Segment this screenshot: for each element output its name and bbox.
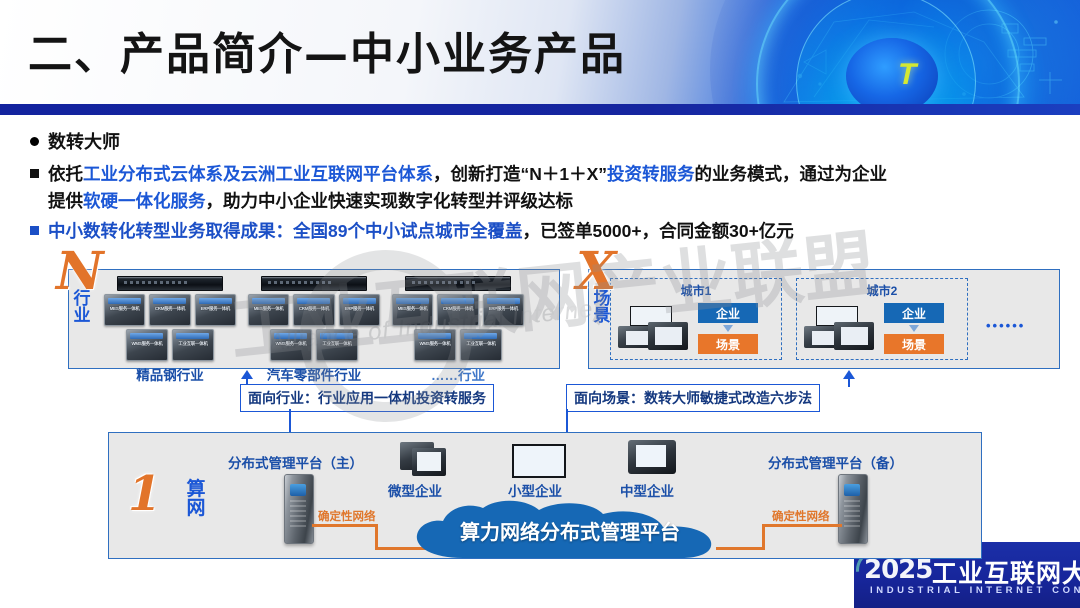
- appliance-box: MES服务一体机: [104, 294, 145, 326]
- bullet-item-1: 依托工业分布式云体系及云洲工业互联网平台体系，创新打造“N＋1＋X”投资转服务的…: [30, 161, 1060, 215]
- connector-scene-v2: [566, 409, 568, 434]
- platform-backup-label: 分布式管理平台（备）: [768, 452, 903, 472]
- appliance-box: 工业互联一体机: [172, 329, 214, 361]
- scene-side-label: 场景: [592, 290, 612, 325]
- logo-en-name: INDUSTRIAL INTERNET CONFERENCE: [870, 585, 1080, 596]
- arrow-down-icon: [723, 325, 733, 332]
- industry-group-3: MES服务一体机 CRM服务一体机 ERP服务一体机 WMS服务一体机 工业互联…: [392, 276, 524, 384]
- header-divider: [0, 104, 1080, 115]
- city-card-1: 城市1 企业 场景: [610, 278, 782, 360]
- arrow-up-industry-icon: [241, 370, 253, 379]
- more-cities-ellipsis: ••••••: [986, 318, 1025, 333]
- appliance-row-2: WMS服务一体机 工业互联一体机: [392, 329, 524, 361]
- city-content: 企业 场景: [611, 299, 781, 354]
- industry-caption: 精品钢行业: [104, 364, 236, 384]
- small-enterprise-icon: [512, 444, 562, 476]
- bullet-heading-label: 数转大师: [48, 128, 120, 154]
- enterprise-chip: 企业: [884, 303, 944, 323]
- caption-industry: 面向行业：行业应用一体机投资转服务: [240, 384, 494, 412]
- bullet-square-icon: [30, 169, 39, 178]
- platform-main-label: 分布式管理平台（主）: [228, 452, 363, 472]
- architecture-diagram: N 行业 MES服务一体机 CRM服务一体机 ERP服务一体机 WMS服务一体机…: [0, 252, 1080, 562]
- bullet-dot-icon: [30, 137, 39, 146]
- city-flow: 企业 场景: [884, 303, 944, 354]
- appliance-box: 工业互联一体机: [460, 329, 502, 361]
- server-cabinet-backup-icon: [838, 474, 868, 544]
- workstation-icon: [834, 322, 874, 350]
- server-rack-icon: [117, 276, 223, 291]
- appliance-row-2: WMS服务一体机 工业互联一体机: [248, 329, 380, 361]
- appliance-box: CRM服务一体机: [149, 294, 190, 326]
- city-content: 企业 场景: [797, 299, 967, 354]
- arrow-down-icon: [909, 325, 919, 332]
- page-title: 二、产品简介—中小业务产品: [28, 18, 626, 82]
- city-title: 城市2: [797, 282, 967, 299]
- industry-side-label: 行业: [72, 290, 92, 325]
- medium-enterprise-label: 中型企业: [620, 480, 674, 500]
- slide-root: T 二、产品简介—中小业务产品 数转大师 依托工业分布式云体系及云洲工业互联网平…: [0, 0, 1080, 608]
- appliance-box: CRM服务一体机: [293, 294, 334, 326]
- scene-chip: 场景: [698, 334, 758, 354]
- appliance-row-1: MES服务一体机 CRM服务一体机 ERP服务一体机: [248, 294, 380, 326]
- server-cabinet-main-icon: [284, 474, 314, 544]
- net-link-right-h1: [762, 524, 842, 527]
- bullet-item-2: 中小数转化转型业务取得成果：全国89个中小试点城市全覆盖，已签单5000+，合同…: [30, 218, 1060, 245]
- appliance-box: WMS服务一体机: [126, 329, 168, 361]
- appliance-box: 工业互联一体机: [316, 329, 358, 361]
- cloud-platform-label: 算力网络分布式管理平台: [405, 500, 735, 560]
- appliance-box: CRM服务一体机: [437, 294, 478, 326]
- appliance-box: WMS服务一体机: [270, 329, 312, 361]
- appliance-box: MES服务一体机: [248, 294, 289, 326]
- server-rack-icon: [261, 276, 367, 291]
- micro-enterprise-label: 微型企业: [388, 480, 442, 500]
- slide-header: T 二、产品简介—中小业务产品: [0, 0, 1080, 112]
- bullet-item-1-text: 依托工业分布式云体系及云洲工业互联网平台体系，创新打造“N＋1＋X”投资转服务的…: [48, 161, 887, 215]
- city-flow: 企业 场景: [698, 303, 758, 354]
- appliance-box: WMS服务一体机: [414, 329, 456, 361]
- enterprise-chip: 企业: [698, 303, 758, 323]
- industry-group-1: MES服务一体机 CRM服务一体机 ERP服务一体机 WMS服务一体机 工业互联…: [104, 276, 236, 384]
- appliance-box: ERP服务一体机: [483, 294, 524, 326]
- header-core-sphere: [846, 38, 938, 112]
- bullet-heading: 数转大师: [30, 128, 1060, 154]
- appliance-row-1: MES服务一体机 CRM服务一体机 ERP服务一体机: [392, 294, 524, 326]
- micro-enterprise-icon: [400, 442, 446, 476]
- terminal-icon: [618, 326, 652, 348]
- terminal-icon: [804, 326, 838, 348]
- compute-side-label: 算网: [186, 480, 206, 519]
- city-title: 城市1: [611, 282, 781, 299]
- connector-industry-v2: [289, 409, 291, 434]
- letter-1-label: 1: [128, 470, 161, 518]
- appliance-box: MES服务一体机: [392, 294, 433, 326]
- appliance-row-1: MES服务一体机 CRM服务一体机 ERP服务一体机: [104, 294, 236, 326]
- city-device-icons: [618, 306, 692, 352]
- scene-chip: 场景: [884, 334, 944, 354]
- appliance-box: ERP服务一体机: [339, 294, 380, 326]
- industry-caption: 汽车零部件行业: [248, 364, 380, 384]
- workstation-icon: [648, 322, 688, 350]
- net-link-left-h1: [312, 524, 378, 527]
- arrow-up-scene-icon: [843, 370, 855, 379]
- server-rack-icon: [405, 276, 511, 291]
- city-card-2: 城市2 企业 场景: [796, 278, 968, 360]
- industry-caption: ……行业: [392, 364, 524, 384]
- net-label-right: 确定性网络: [772, 508, 830, 524]
- caption-scene: 面向场景：数转大师敏捷式改造六步法: [566, 384, 820, 412]
- appliance-box: ERP服务一体机: [195, 294, 236, 326]
- medium-enterprise-icon: [628, 440, 676, 476]
- industry-group-2: MES服务一体机 CRM服务一体机 ERP服务一体机 WMS服务一体机 工业互联…: [248, 276, 380, 384]
- bullet-square-icon-2: [30, 226, 39, 235]
- city-device-icons: [804, 306, 878, 352]
- appliance-row-2: WMS服务一体机 工业互联一体机: [104, 329, 236, 361]
- bullet-item-2-text: 中小数转化转型业务取得成果：全国89个中小试点城市全覆盖，已签单5000+，合同…: [48, 218, 794, 245]
- net-label-left: 确定性网络: [318, 508, 376, 524]
- cloud-platform: 算力网络分布式管理平台: [405, 500, 735, 560]
- bullet-text-block: 数转大师 依托工业分布式云体系及云洲工业互联网平台体系，创新打造“N＋1＋X”投…: [30, 128, 1060, 248]
- small-enterprise-label: 小型企业: [508, 480, 562, 500]
- connector-scene-v1: [848, 379, 850, 387]
